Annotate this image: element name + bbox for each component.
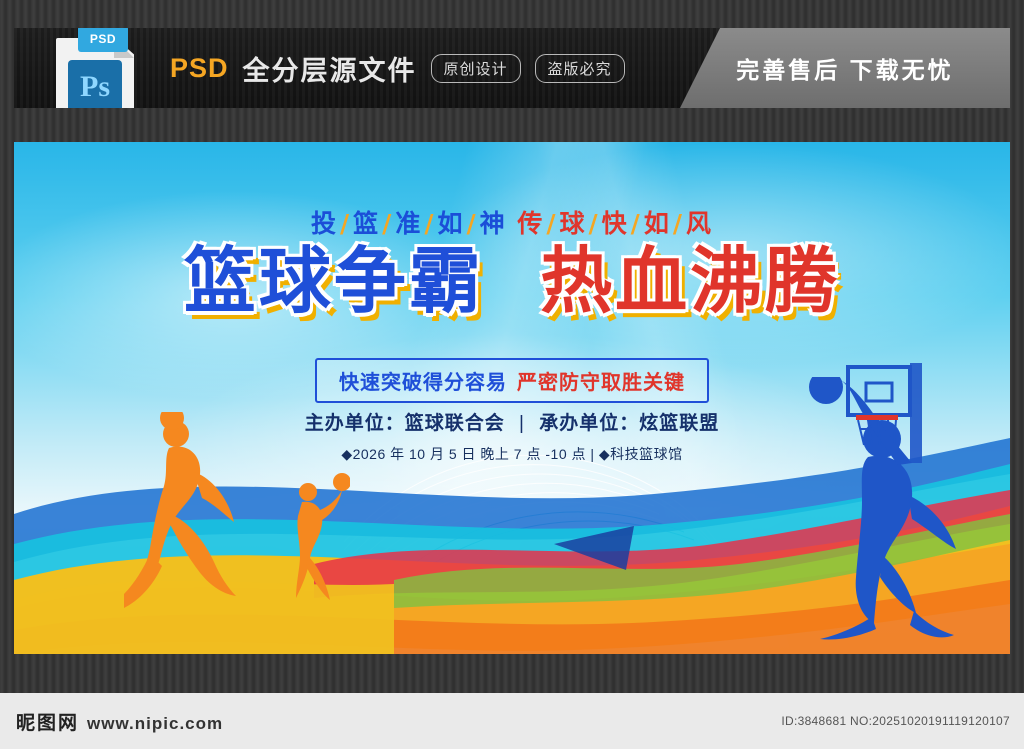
- organizer-separator: |: [511, 413, 533, 434]
- slogan-slash-1: /: [338, 209, 353, 238]
- slogan-slash-6: /: [587, 209, 602, 238]
- poster-artwork: 投/篮/准/如/神 传/球/快/如/风 篮球争霸 热血沸腾 快速突破得分容易 严…: [14, 142, 1010, 654]
- slogan-part-2: 篮: [353, 209, 380, 238]
- player-silhouette-left: [124, 412, 254, 612]
- poster-main-title: 篮球争霸 热血沸腾: [14, 244, 1010, 320]
- slogan-part-6: 传: [507, 209, 545, 238]
- undertaker-text: 承办单位：炫篮联盟: [539, 413, 719, 434]
- slogan-slash-8: /: [671, 209, 686, 238]
- after-sales-text: 完善售后 下载无忧: [736, 51, 953, 85]
- player-silhouette-mid: [272, 472, 350, 602]
- slogan-slash-2: /: [380, 209, 395, 238]
- photoshop-icon: Ps: [68, 60, 122, 108]
- footer-branding: 昵图网 www.nipic.com: [16, 708, 223, 735]
- main-title-blue: 篮球争霸: [184, 239, 484, 323]
- psd-tag-label: PSD: [90, 32, 116, 46]
- slogan-part-9: 如: [644, 209, 671, 238]
- nipic-logo-text: 昵图网: [16, 708, 79, 735]
- psd-banner-main-text: 全分层源文件: [243, 49, 417, 88]
- subtitle-right: 严密防守取胜关键: [517, 366, 685, 395]
- date-venue-text: ◆2026 年 10 月 5 日 晚上 7 点 -10 点 | ◆科技篮球馆: [341, 446, 682, 462]
- psd-banner-text-group: PSD 全分层源文件 原创设计 盗版必究: [170, 46, 625, 90]
- slogan-part-4: 如: [437, 209, 464, 238]
- slogan-slash-3: /: [422, 209, 437, 238]
- page-root: PSD Ps PSD 全分层源文件 原创设计 盗版必究 完善售后 下载无忧: [0, 0, 1024, 749]
- slogan-slash-5: /: [544, 209, 559, 238]
- slogan-part-7: 球: [560, 209, 587, 238]
- slogan-part-1: 投: [311, 209, 338, 238]
- psd-banner-bar: PSD Ps PSD 全分层源文件 原创设计 盗版必究 完善售后 下载无忧: [14, 28, 1010, 108]
- slogan-part-3: 准: [395, 209, 422, 238]
- slogan-part-10: 风: [686, 209, 713, 238]
- subtitle-left: 快速突破得分容易: [339, 366, 507, 395]
- organizer-text: 主办单位：篮球联合会: [305, 413, 505, 434]
- psd-file-icon: PSD Ps: [48, 28, 134, 108]
- after-sales-chip: 完善售后 下载无忧: [680, 28, 1010, 108]
- slogan-slash-4: /: [464, 209, 479, 238]
- nipic-url-text: www.nipic.com: [87, 714, 223, 734]
- footer-id-text: ID:3848681 NO:20251020191119120107: [781, 714, 1010, 728]
- slogan-slash-7: /: [629, 209, 644, 238]
- badge-original-design: 原创设计: [431, 54, 521, 83]
- badge-anti-piracy: 盗版必究: [535, 54, 625, 83]
- slogan-part-8: 快: [602, 209, 629, 238]
- page-footer: 昵图网 www.nipic.com ID:3848681 NO:20251020…: [0, 693, 1024, 749]
- basketball-hoop-icon: [832, 357, 962, 487]
- poster-subtitle-box: 快速突破得分容易 严密防守取胜关键: [315, 358, 709, 403]
- psd-tag-badge: PSD: [78, 28, 128, 52]
- poster-slogan: 投/篮/准/如/神 传/球/快/如/风: [14, 204, 1010, 240]
- psd-word: PSD: [170, 53, 229, 84]
- slogan-part-5: 神: [480, 209, 507, 238]
- main-title-red: 热血沸腾: [540, 239, 840, 323]
- photoshop-icon-label: Ps: [80, 70, 110, 104]
